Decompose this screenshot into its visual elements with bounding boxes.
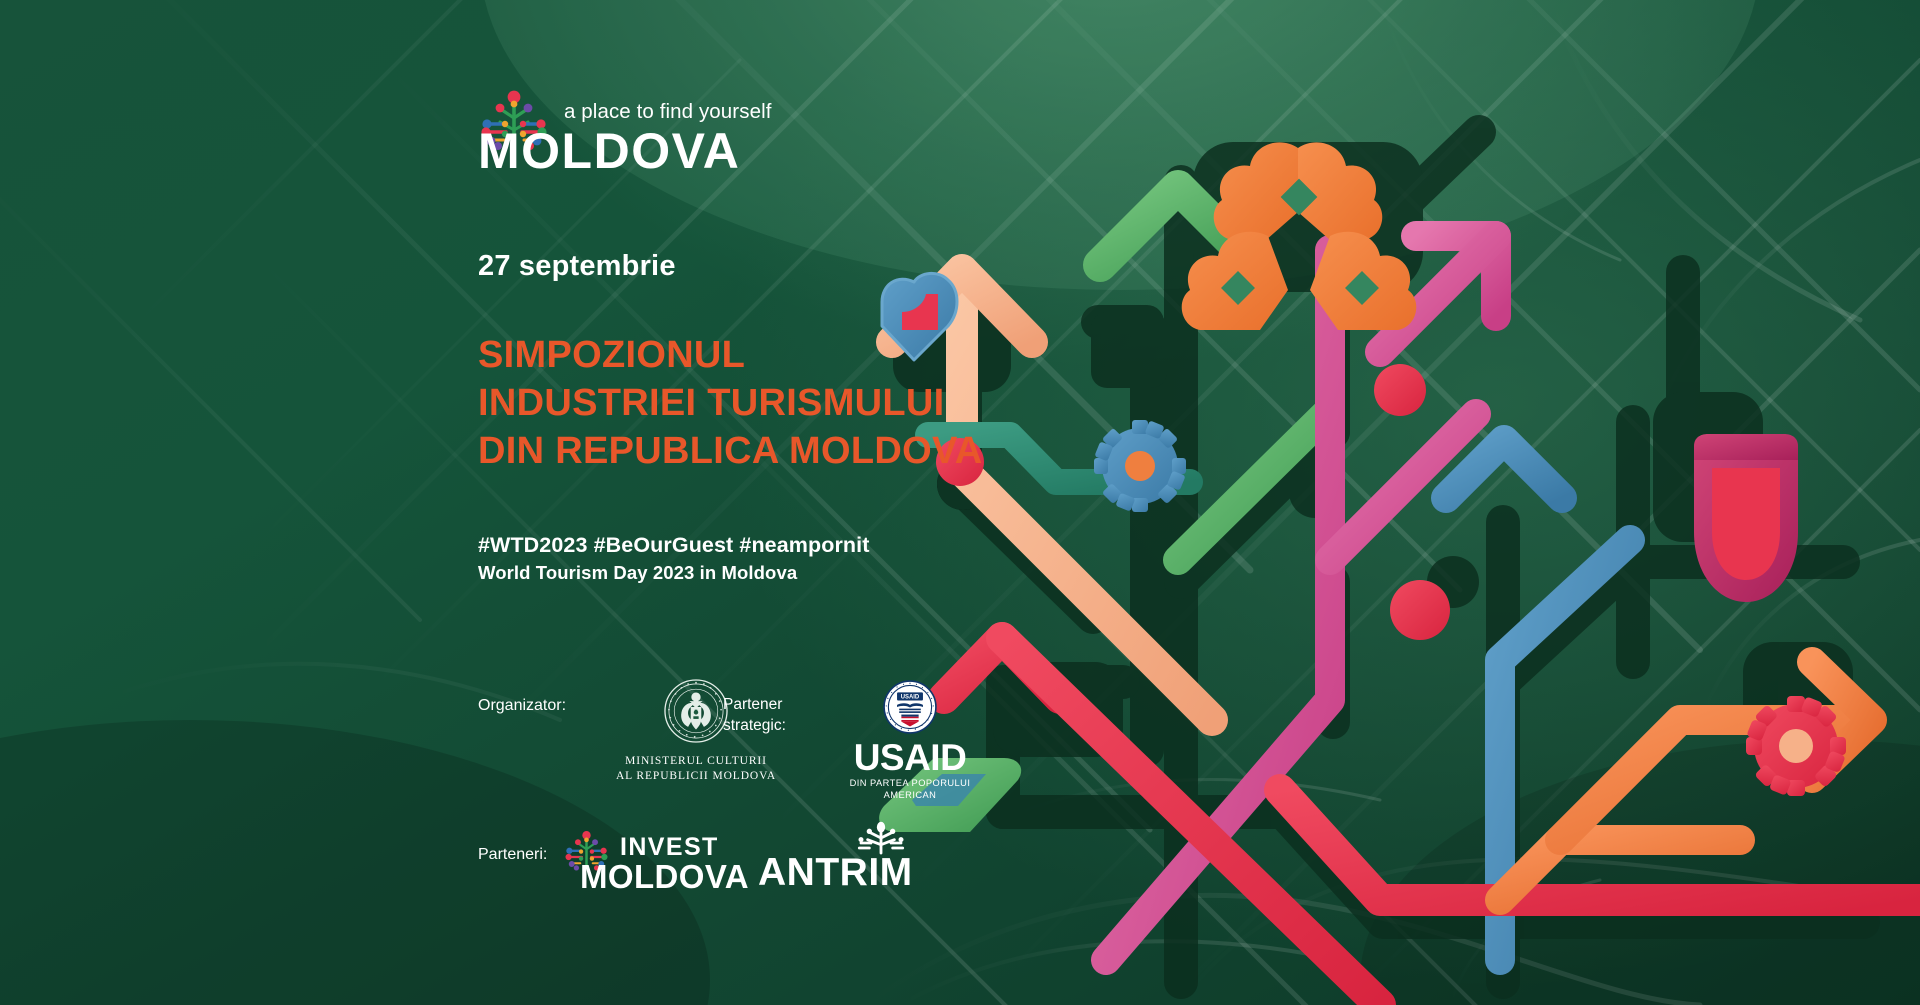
strategic-partner-label-line-2: strategic: [723,716,813,737]
brand-tagline: a place to find yourself [564,100,772,124]
poster-canvas: a place to find yourself MOLDOVA 27 sept… [0,0,1920,1005]
usaid-wordmark: USAID [830,740,990,775]
ministry-name-line-2: AL REPUBLICII MOLDOVA [596,769,796,784]
strategic-partner-label: Partener strategic: [723,695,813,737]
content-column: a place to find yourself MOLDOVA 27 sept… [478,0,1038,1005]
partners-label: Parteneri: [478,844,547,866]
hashtag-block: #WTD2023 #BeOurGuest #neampornit World T… [478,533,998,584]
invest-moldova-label: MOLDOVA [580,858,749,896]
gear-icon [1094,420,1186,512]
sun-flower-icon [1746,696,1846,796]
event-subtitle: World Tourism Day 2023 in Moldova [478,562,998,584]
ministry-name: MINISTERUL CULTURII AL REPUBLICII MOLDOV… [596,754,796,784]
moldova-government-seal-icon [663,678,729,744]
event-title-line-1: SIMPOZIONUL [478,332,1078,380]
strategic-partner-label-line-1: Partener [723,695,813,716]
brand-wordmark: MOLDOVA [478,122,740,180]
organizer-row: Organizator: [478,690,1038,800]
antrim-tree-icon [856,821,906,855]
event-title-line-2: INDUSTRIEI TURISMULUI [478,380,1078,428]
event-date: 27 septembrie [478,250,676,283]
event-title: SIMPOZIONUL INDUSTRIEI TURISMULUI DIN RE… [478,332,1078,476]
wine-glass-icon [1694,434,1798,602]
usaid-subtitle: DIN PARTEA POPORULUI AMERICAN [830,777,990,801]
map-marker-dot-icon [1374,364,1426,416]
svg-text:USAID: USAID [901,695,920,701]
antrim-label: ANTRIM [758,851,913,895]
partners-row: Parteneri: [478,835,1038,925]
event-title-line-3: DIN REPUBLICA MOLDOVA [478,428,1078,476]
organizer-label: Organizator: [478,695,566,717]
usaid-subtitle-line-1: DIN PARTEA POPORULUI [830,777,990,789]
usaid-subtitle-line-2: AMERICAN [830,789,990,801]
map-marker-dot-icon [1390,580,1450,640]
usaid-logo: USAID [830,680,990,801]
usaid-seal-icon: USAID [883,680,937,734]
event-hashtags: #WTD2023 #BeOurGuest #neampornit [478,533,998,558]
ministry-name-line-1: MINISTERUL CULTURII [596,754,796,769]
